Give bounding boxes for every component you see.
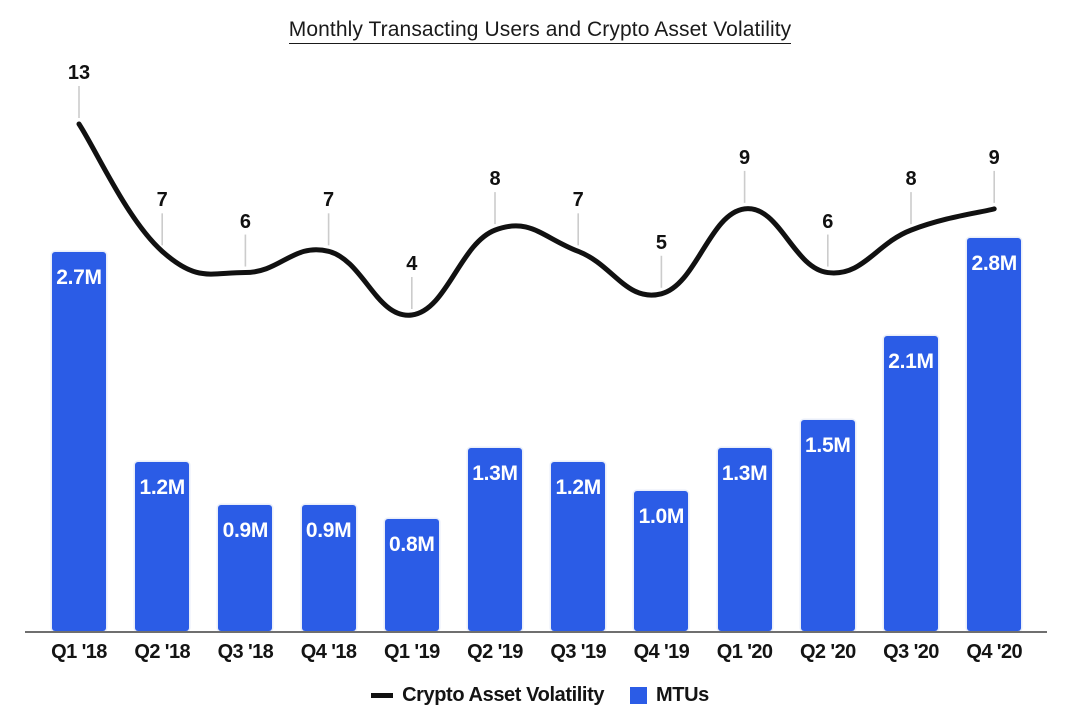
x-tick-label: Q2 '20 — [800, 641, 856, 664]
bar-q420[interactable] — [967, 238, 1021, 631]
x-tick-label: Q1 '18 — [51, 641, 107, 664]
legend-item-mtus[interactable]: MTUs — [630, 684, 709, 707]
x-tick-label: Q4 '18 — [301, 641, 357, 664]
bar-value-label: 0.8M — [389, 533, 435, 557]
bar-value-label: 0.9M — [223, 519, 269, 543]
bar-q118[interactable] — [52, 252, 106, 631]
bar-q320[interactable] — [884, 336, 938, 631]
x-tick-label: Q3 '20 — [883, 641, 939, 664]
plot-area: 2.7M1.2M0.9M0.9M0.8M1.3M1.2M1.0M1.3M1.5M… — [0, 0, 1080, 640]
volatility-value-label: 6 — [240, 211, 251, 234]
chart-container: Monthly Transacting Users and Crypto Ass… — [0, 0, 1080, 703]
volatility-value-label: 8 — [489, 168, 500, 191]
legend-item-crypto-asset-volatility[interactable]: Crypto Asset Volatility — [371, 684, 604, 707]
x-tick-label: Q4 '19 — [634, 641, 690, 664]
volatility-value-label: 13 — [68, 62, 90, 85]
chart-legend: Crypto Asset Volatility MTUs — [0, 684, 1080, 707]
volatility-value-label: 5 — [656, 232, 667, 255]
volatility-value-label: 7 — [157, 189, 168, 212]
volatility-value-label: 7 — [573, 189, 584, 212]
bar-value-label: 2.1M — [888, 350, 934, 374]
bar-value-label: 2.7M — [56, 266, 102, 290]
bar-value-label: 2.8M — [971, 252, 1017, 276]
volatility-line-path — [79, 124, 994, 315]
bar-value-label: 1.2M — [555, 476, 601, 500]
volatility-value-label: 9 — [989, 147, 1000, 170]
leader-lines-group — [79, 86, 994, 309]
x-tick-label: Q1 '20 — [717, 641, 773, 664]
x-tick-label: Q3 '19 — [550, 641, 606, 664]
bar-value-label: 1.0M — [639, 505, 685, 529]
volatility-value-label: 8 — [905, 168, 916, 191]
volatility-value-label: 6 — [822, 211, 833, 234]
volatility-value-label: 4 — [406, 253, 417, 276]
x-tick-label: Q1 '19 — [384, 641, 440, 664]
line-marker-icon — [371, 693, 393, 698]
volatility-value-label: 9 — [739, 147, 750, 170]
legend-label: MTUs — [656, 684, 709, 707]
bar-value-label: 1.5M — [805, 434, 851, 458]
square-marker-icon — [630, 687, 647, 704]
volatility-value-label: 7 — [323, 189, 334, 212]
bar-value-label: 1.3M — [472, 462, 518, 486]
bar-value-label: 1.3M — [722, 462, 768, 486]
legend-label: Crypto Asset Volatility — [402, 684, 604, 707]
x-tick-label: Q2 '18 — [134, 641, 190, 664]
bar-value-label: 1.2M — [139, 476, 185, 500]
x-tick-label: Q4 '20 — [966, 641, 1022, 664]
x-tick-label: Q3 '18 — [218, 641, 274, 664]
x-tick-label: Q2 '19 — [467, 641, 523, 664]
x-axis-line — [25, 631, 1047, 633]
bar-value-label: 0.9M — [306, 519, 352, 543]
